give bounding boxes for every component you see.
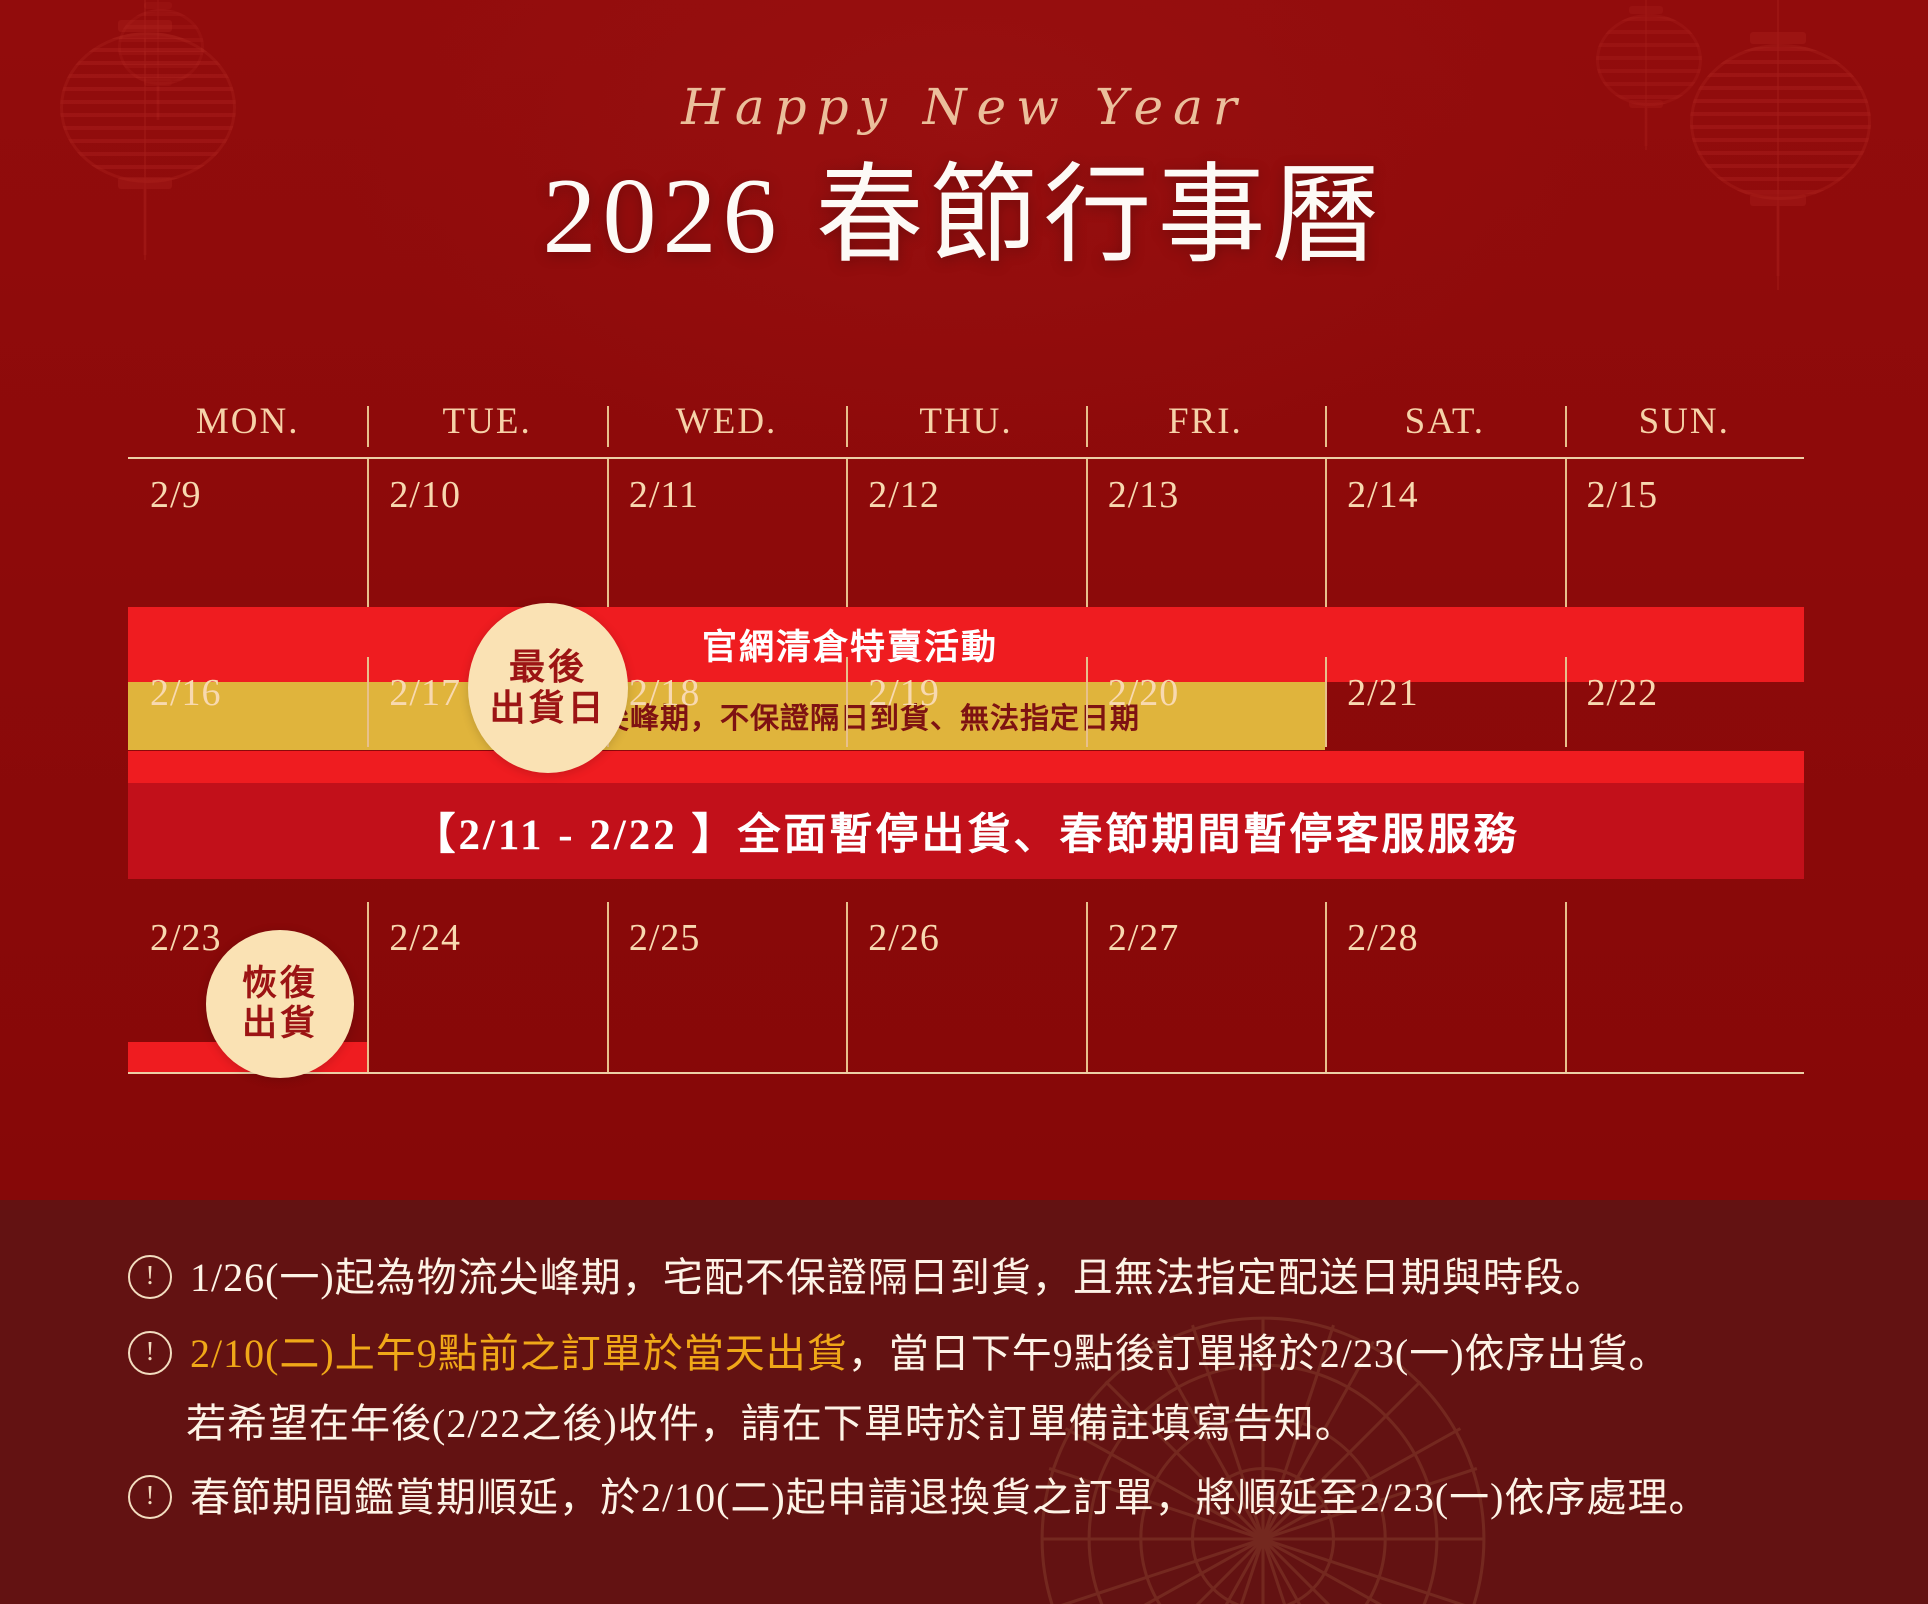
date-cell-2-10[interactable]: 2/10: [367, 459, 606, 539]
weekday-thu: THU.: [846, 400, 1085, 457]
note-item-3: ! 春節期間鑑賞期順延，於2/10(二)起申請退換貨之訂單，將順延至2/23(一…: [128, 1468, 1848, 1528]
date-cell-2-15[interactable]: 2/15: [1565, 459, 1804, 539]
exclamation-icon: !: [128, 1255, 172, 1299]
date-cell-2-9[interactable]: 2/9: [128, 459, 367, 539]
notes-list: ! 1/26(一)起為物流尖峰期，宅配不保證隔日到貨，且無法指定配送日期與時段。…: [128, 1248, 1848, 1544]
grid-line: [367, 902, 369, 1072]
date-cell-2-27[interactable]: 2/27: [1086, 902, 1325, 982]
note-2-text: ，當日下午9點後訂單將於2/23(一)依序出貨。: [848, 1331, 1670, 1376]
date-cell-2-26[interactable]: 2/26: [846, 902, 1085, 982]
date-cell-2-22[interactable]: 2/22: [1565, 657, 1804, 737]
lantern-body: [118, 9, 204, 85]
note-2-highlight: 2/10(二)上午9點前之訂單於當天出貨: [190, 1331, 848, 1376]
date-cell-2-24[interactable]: 2/24: [367, 902, 606, 982]
date-cell-2-11[interactable]: 2/11: [607, 459, 846, 539]
date-cell-2-14[interactable]: 2/14: [1325, 459, 1564, 539]
badge-resume-shipping: 恢復 出貨: [206, 930, 354, 1078]
date-cell-2-21[interactable]: 2/21: [1325, 657, 1564, 737]
page-title: 2026 春節行事曆: [0, 152, 1928, 282]
calendar-week-1: 2/9 2/10 2/11 2/12 2/13 2/14 2/15 官網清倉特賣…: [128, 459, 1804, 657]
lantern-cap-top: [144, 2, 172, 9]
date-cell-2-19[interactable]: 2/19: [846, 657, 1085, 737]
grid-line: [1325, 657, 1327, 747]
weekday-sat: SAT.: [1325, 400, 1564, 457]
calendar: MON. TUE. WED. THU. FRI. SAT. SUN. 2/9 2…: [128, 400, 1804, 1082]
week-3-dates: 2/23 2/24 2/25 2/26 2/27 2/28: [128, 902, 1804, 982]
grid-line: [1565, 657, 1567, 747]
grid-line: [367, 657, 369, 747]
grid-line: [846, 459, 848, 607]
badge-resume-line1: 恢復: [242, 964, 318, 1004]
badge-last-shipping-line1: 最後: [509, 647, 587, 688]
weekday-fri: FRI.: [1086, 400, 1325, 457]
badge-resume-line2: 出貨: [242, 1004, 318, 1044]
grid-line: [607, 459, 609, 607]
note-2-subtext: 若希望在年後(2/22之後)收件，請在下單時於訂單備註填寫告知。: [186, 1394, 1848, 1454]
grid-line: [846, 902, 848, 1072]
footer-notes-section: ! 1/26(一)起為物流尖峰期，宅配不保證隔日到貨，且無法指定配送日期與時段。…: [0, 1200, 1928, 1604]
calendar-week-3: 2/23 2/24 2/25 2/26 2/27 2/28 恢復 出貨: [128, 902, 1804, 1082]
grid-line: [1086, 657, 1088, 747]
note-item-1: ! 1/26(一)起為物流尖峰期，宅配不保證隔日到貨，且無法指定配送日期與時段。: [128, 1248, 1848, 1308]
lantern-cap-top: [1750, 32, 1806, 44]
badge-last-shipping-line2: 出貨日: [489, 688, 606, 729]
suspend-accent-strip: [128, 751, 1804, 783]
calendar-weekday-header: MON. TUE. WED. THU. FRI. SAT. SUN.: [128, 400, 1804, 457]
date-cell-2-25[interactable]: 2/25: [607, 902, 846, 982]
note-1-text: 1/26(一)起為物流尖峰期，宅配不保證隔日到貨，且無法指定配送日期與時段。: [190, 1248, 1606, 1308]
date-cell-2-12[interactable]: 2/12: [846, 459, 1085, 539]
lantern-cap-top: [1629, 6, 1663, 14]
grid-line: [607, 902, 609, 1072]
grid-line: [1325, 459, 1327, 607]
weekday-wed: WED.: [607, 400, 846, 457]
weekday-sun: SUN.: [1565, 400, 1804, 457]
exclamation-icon: !: [128, 1331, 172, 1375]
date-cell-empty[interactable]: [1565, 902, 1804, 982]
hero-section: Happy New Year 2026 春節行事曆 MON. TUE. WED.…: [0, 0, 1928, 1200]
note-item-2: ! 2/10(二)上午9點前之訂單於當天出貨，當日下午9點後訂單將於2/23(一…: [128, 1324, 1848, 1384]
week-2-dates: 2/16 2/17 2/18 2/19 2/20 2/21 2/22: [128, 657, 1804, 737]
suspend-banner-text: 【2/11 - 2/22 】全面暫停出貨、春節期間暫停客服服務: [128, 800, 1804, 862]
note-3-text: 春節期間鑑賞期順延，於2/10(二)起申請退換貨之訂單，將順延至2/23(一)依…: [190, 1468, 1710, 1528]
calendar-week-2: 2/16 2/17 2/18 2/19 2/20 2/21 2/22 【2/11…: [128, 657, 1804, 902]
grid-line: [1086, 902, 1088, 1072]
badge-last-shipping-day: 最後 出貨日: [468, 603, 628, 773]
date-cell-2-18[interactable]: 2/18: [607, 657, 846, 737]
suspend-banner-bar: 【2/11 - 2/22 】全面暫停出貨、春節期間暫停客服服務: [128, 783, 1804, 879]
note-2-body: 2/10(二)上午9點前之訂單於當天出貨，當日下午9點後訂單將於2/23(一)依…: [190, 1324, 1670, 1384]
grid-line: [1325, 902, 1327, 1072]
grid-line: [1565, 902, 1567, 1072]
week-1-dates: 2/9 2/10 2/11 2/12 2/13 2/14 2/15: [128, 459, 1804, 539]
exclamation-icon: !: [128, 1475, 172, 1519]
weekday-tue: TUE.: [367, 400, 606, 457]
grid-line: [846, 657, 848, 747]
date-cell-2-28[interactable]: 2/28: [1325, 902, 1564, 982]
greeting-text: Happy New Year: [0, 78, 1928, 136]
grid-line: [367, 459, 369, 607]
date-cell-2-16[interactable]: 2/16: [128, 657, 367, 737]
calendar-bottom-divider: [128, 1072, 1804, 1074]
grid-line: [1565, 459, 1567, 607]
weekday-mon: MON.: [128, 400, 367, 457]
date-cell-2-13[interactable]: 2/13: [1086, 459, 1325, 539]
grid-line: [1086, 459, 1088, 607]
date-cell-2-20[interactable]: 2/20: [1086, 657, 1325, 737]
